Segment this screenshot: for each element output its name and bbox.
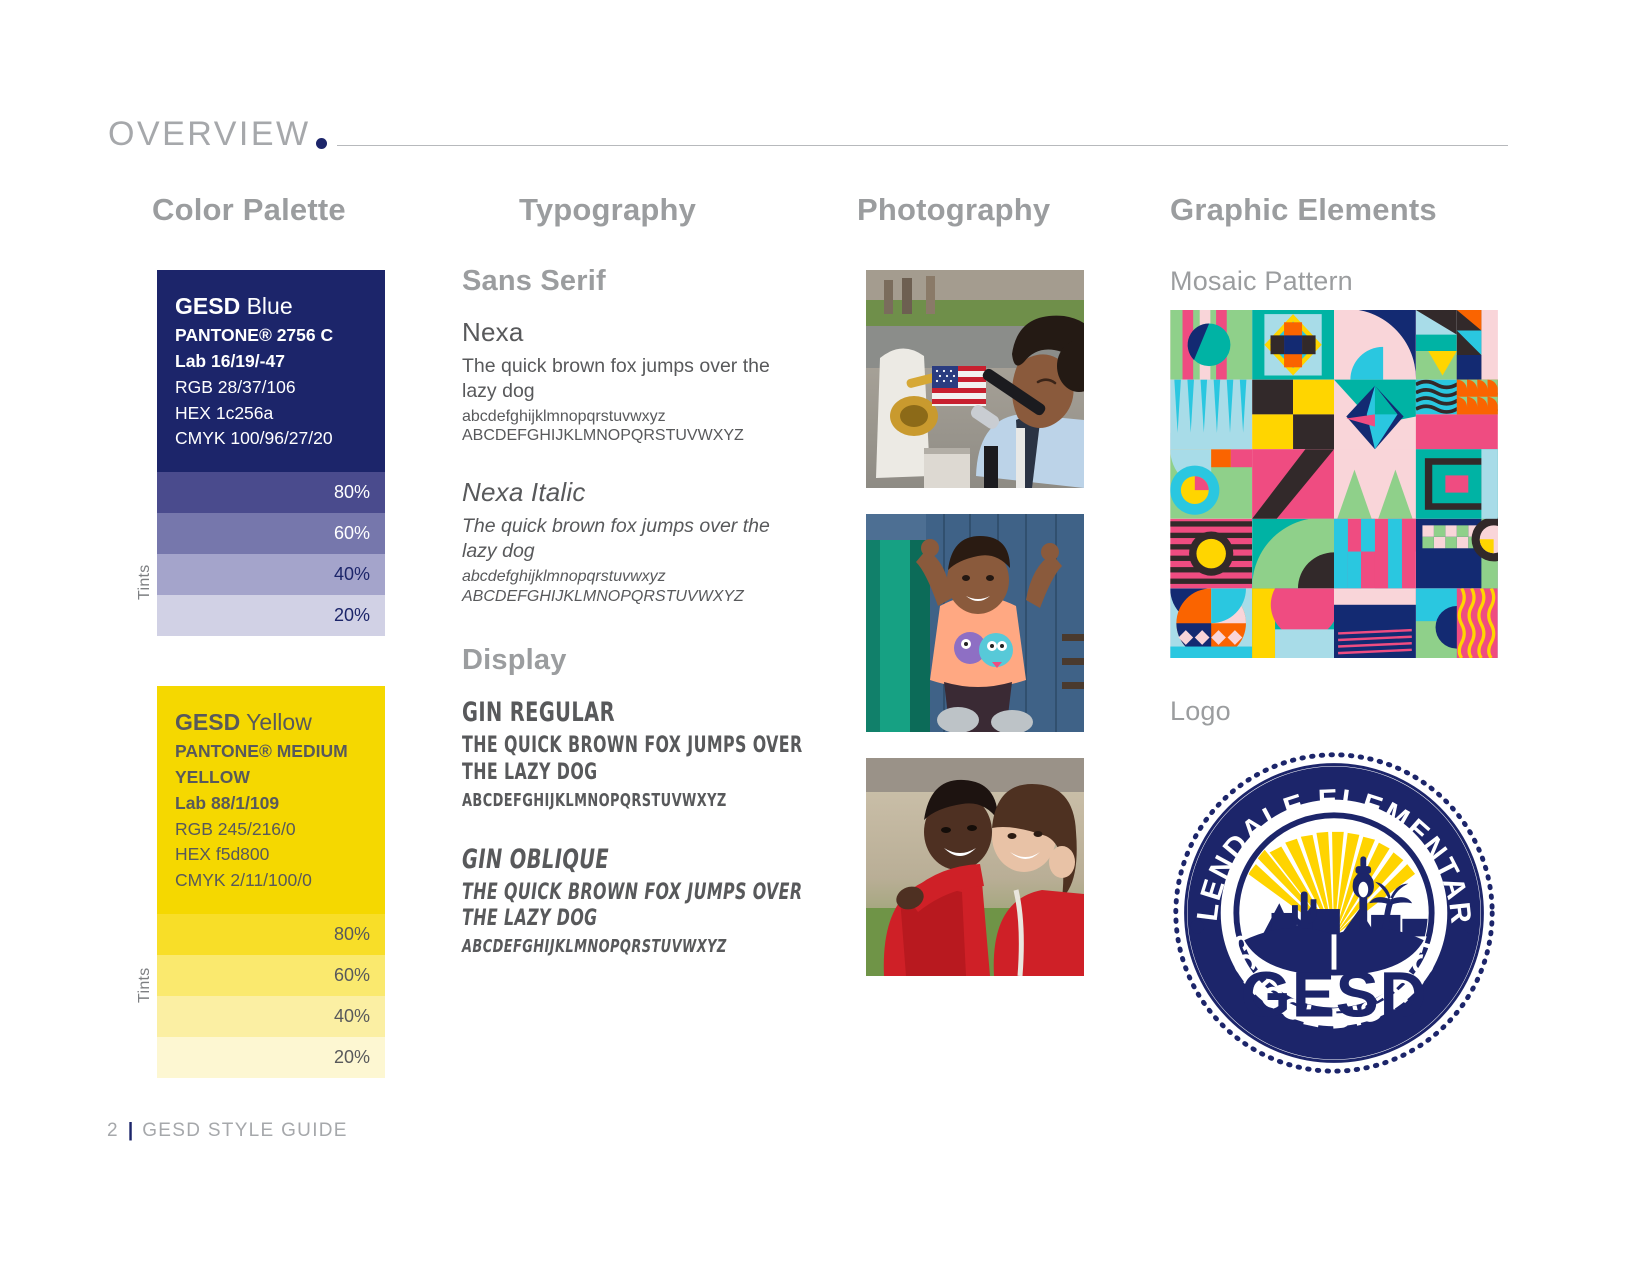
swatch-hex-yellow: HEX f5d800 bbox=[175, 842, 367, 868]
subheading-mosaic-pattern: Mosaic Pattern bbox=[1170, 266, 1353, 297]
tint-row: 20% bbox=[157, 595, 385, 636]
footer-separator: | bbox=[128, 1120, 133, 1142]
swatch-name-yellow: GESD Yellow bbox=[175, 708, 367, 737]
tints-label-blue: Tints bbox=[136, 564, 154, 600]
font-uppercase: ABCDEFGHIJKLMNOPQRSTUVWXYZ bbox=[462, 426, 807, 446]
type-specimen-nexa-italic: Nexa Italic The quick brown fox jumps ov… bbox=[462, 478, 807, 606]
swatch-main-yellow: GESD Yellow PANTONE® MEDIUM YELLOW Lab 8… bbox=[157, 686, 385, 914]
swatch-cmyk-yellow: CMYK 2/11/100/0 bbox=[175, 868, 367, 894]
gesd-logo: GLENDALE ELEMENTARY SCHOOL DISTRICT bbox=[1168, 745, 1500, 1077]
tint-row: 20% bbox=[157, 1037, 385, 1078]
swatch-brand: GESD bbox=[175, 709, 240, 735]
font-name: GIN REGULAR bbox=[462, 697, 807, 728]
color-swatch-blue: GESD Blue PANTONE® 2756 C Lab 16/19/-47 … bbox=[157, 270, 385, 636]
font-uppercase: ABCDEFGHIJKLMNOPQRSTUVWXYZ bbox=[462, 587, 807, 607]
swatch-name-blue: GESD Blue bbox=[175, 292, 367, 321]
font-pangram: The quick brown fox jumps over the lazy … bbox=[462, 354, 807, 404]
tint-row: 40% bbox=[157, 554, 385, 595]
footer-title: GESD STYLE GUIDE bbox=[142, 1120, 348, 1142]
swatch-pantone-blue: PANTONE® 2756 C bbox=[175, 323, 367, 349]
font-pangram: THE QUICK BROWN FOX JUMPS OVER THE LAZY … bbox=[462, 880, 807, 934]
font-name: Nexa Italic bbox=[462, 478, 807, 508]
swatch-lab-blue: Lab 16/19/-47 bbox=[175, 349, 367, 375]
tint-row: 60% bbox=[157, 955, 385, 996]
swatch-rgb-blue: RGB 28/37/106 bbox=[175, 375, 367, 401]
column-heading-graphic-elements: Graphic Elements bbox=[1170, 192, 1437, 228]
type-specimen-nexa: Nexa The quick brown fox jumps over the … bbox=[462, 318, 807, 446]
photo-playground-slide bbox=[866, 514, 1084, 732]
tint-row: 60% bbox=[157, 513, 385, 554]
logo-monogram-text: GESD bbox=[1241, 958, 1428, 1030]
swatch-rgb-yellow: RGB 245/216/0 bbox=[175, 817, 367, 843]
page-header: OVERVIEW bbox=[108, 107, 1508, 151]
font-lowercase: abcdefghijklmnopqrstuvwxyz bbox=[462, 407, 807, 427]
tint-row: 80% bbox=[157, 914, 385, 955]
swatch-cmyk-blue: CMYK 100/96/27/20 bbox=[175, 426, 367, 452]
column-heading-color-palette: Color Palette bbox=[152, 192, 346, 228]
font-lowercase: abcdefghijklmnopqrstuvwxyz bbox=[462, 567, 807, 587]
typography-column: Sans Serif Nexa The quick brown fox jump… bbox=[462, 265, 807, 990]
page-footer: 2 | GESD STYLE GUIDE bbox=[107, 1120, 348, 1142]
swatch-color-name: Blue bbox=[247, 293, 293, 319]
subheading-logo: Logo bbox=[1170, 696, 1231, 727]
font-pangram: The quick brown fox jumps over the lazy … bbox=[462, 514, 807, 564]
photo-two-students bbox=[866, 758, 1084, 976]
font-uppercase: ABCDEFGHIJKLMNOPQRSTUVWXYZ bbox=[462, 936, 807, 958]
tint-row: 40% bbox=[157, 996, 385, 1037]
font-name: GIN OBLIQUE bbox=[462, 844, 807, 875]
font-uppercase: ABCDEFGHIJKLMNOPQRSTUVWXYZ bbox=[462, 790, 807, 812]
column-heading-photography: Photography bbox=[857, 192, 1050, 228]
accent-dot bbox=[316, 138, 327, 149]
swatch-color-name: Yellow bbox=[246, 709, 312, 735]
page-title: OVERVIEW bbox=[108, 117, 311, 151]
swatch-lab-yellow: Lab 88/1/109 bbox=[175, 791, 367, 817]
swatch-brand: GESD bbox=[175, 293, 240, 319]
typography-heading-sans-serif: Sans Serif bbox=[462, 265, 807, 298]
type-specimen-gin-regular: GIN REGULAR THE QUICK BROWN FOX JUMPS OV… bbox=[462, 697, 893, 811]
swatch-main-blue: GESD Blue PANTONE® 2756 C Lab 16/19/-47 … bbox=[157, 270, 385, 472]
footer-page-number: 2 bbox=[107, 1120, 119, 1142]
photo-marching-band bbox=[866, 270, 1084, 488]
color-swatch-yellow: GESD Yellow PANTONE® MEDIUM YELLOW Lab 8… bbox=[157, 686, 385, 1078]
mosaic-pattern-graphic bbox=[1170, 310, 1498, 658]
font-name: Nexa bbox=[462, 318, 807, 348]
header-rule bbox=[337, 145, 1508, 146]
swatch-pantone-yellow: PANTONE® MEDIUM YELLOW bbox=[175, 739, 367, 790]
typography-heading-display: Display bbox=[462, 644, 807, 677]
column-heading-typography: Typography bbox=[519, 192, 696, 228]
swatch-hex-blue: HEX 1c256a bbox=[175, 401, 367, 427]
tint-row: 80% bbox=[157, 472, 385, 513]
tints-label-yellow: Tints bbox=[136, 967, 154, 1003]
font-pangram: THE QUICK BROWN FOX JUMPS OVER THE LAZY … bbox=[462, 733, 807, 787]
type-specimen-gin-oblique: GIN OBLIQUE THE QUICK BROWN FOX JUMPS OV… bbox=[462, 844, 893, 958]
